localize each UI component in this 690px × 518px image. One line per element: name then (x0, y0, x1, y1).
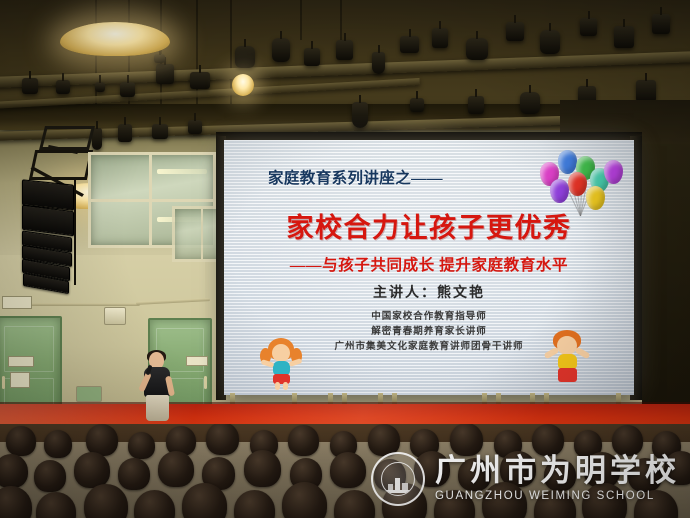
cartoon-girl-icon (254, 336, 310, 390)
lecture-slide: 家庭教育系列讲座之—— 家校合力让孩子更优秀 ——与孩子共同成长 提升家庭教育水… (224, 140, 634, 395)
stage-light (352, 102, 368, 128)
audience-head (128, 432, 155, 459)
wall-fixture (76, 386, 102, 402)
weiming-school-seal-icon (371, 452, 425, 506)
slide-subtitle: ——与孩子共同成长 提升家庭教育水平 (224, 253, 634, 275)
audience-head (158, 451, 194, 487)
audience-head (0, 454, 28, 488)
dark-right-area (642, 120, 690, 410)
stage-light (400, 36, 419, 53)
stage-light (410, 98, 424, 112)
stage-light (540, 30, 560, 54)
stage-light (468, 96, 484, 114)
door-label (186, 356, 208, 366)
balloon (568, 172, 587, 196)
stage-light (235, 46, 255, 68)
stage-light (120, 82, 135, 97)
stage-light (466, 38, 488, 60)
stage-light (520, 92, 540, 114)
stage-light (304, 48, 320, 66)
stage-light (152, 124, 168, 139)
school-name-en: GUANGZHOU WEIMING SCHOOL (435, 491, 680, 503)
stage-light (506, 22, 524, 41)
stage-light (154, 54, 165, 63)
balloon (604, 160, 623, 184)
audience-head (206, 424, 239, 455)
presenter-with-microphone (138, 352, 178, 422)
slide-kicker: 家庭教育系列讲座之—— (268, 166, 443, 188)
audience-head (330, 452, 366, 488)
ceiling-dome-light (60, 22, 170, 56)
slide-title: 家校合力让孩子更优秀 (224, 206, 634, 245)
audience-head (44, 430, 72, 458)
balloon (550, 179, 569, 203)
audience-head (118, 458, 150, 490)
school-watermark: 广州市为明学校 GUANGZHOU WEIMING SCHOOL (371, 452, 680, 506)
stage-light (95, 82, 105, 92)
stage-light (118, 124, 132, 142)
stage-light (372, 52, 385, 74)
door-label (8, 356, 34, 367)
ceiling-spot-light (232, 74, 254, 96)
stage-light (652, 14, 670, 34)
wall-fixture (104, 307, 126, 325)
stage-light (432, 28, 448, 48)
stage-light (190, 72, 210, 89)
audience-head (288, 425, 319, 456)
presenter-skirt (146, 395, 169, 421)
audience-head (34, 460, 66, 492)
stage-light (614, 26, 634, 48)
audience-head (74, 452, 110, 488)
door-notice (10, 372, 30, 388)
auditorium-photo: 家庭教育系列讲座之—— 家校合力让孩子更优秀 ——与孩子共同成长 提升家庭教育水… (0, 0, 690, 518)
stage-light (156, 64, 174, 84)
stage-light (336, 40, 353, 60)
stage-light (272, 38, 290, 62)
audience-head (6, 426, 36, 456)
cartoon-boy-icon (540, 328, 596, 382)
slide-speaker-line: 主讲人：熊文艳 (224, 282, 634, 302)
stage-light (188, 120, 202, 134)
led-presentation-screen: 家庭教育系列讲座之—— 家校合力让孩子更优秀 ——与孩子共同成长 提升家庭教育水… (224, 140, 634, 395)
stage-light (580, 18, 597, 36)
stage-light (636, 80, 656, 102)
stage-light (22, 78, 38, 94)
exit-sign (2, 296, 32, 309)
school-name-cn: 广州市为明学校 (435, 455, 680, 486)
credential-line: 中国家校合作教育指导师 (224, 310, 634, 325)
balloon (558, 150, 577, 174)
stage-light (56, 80, 70, 94)
audience-head (244, 450, 281, 487)
